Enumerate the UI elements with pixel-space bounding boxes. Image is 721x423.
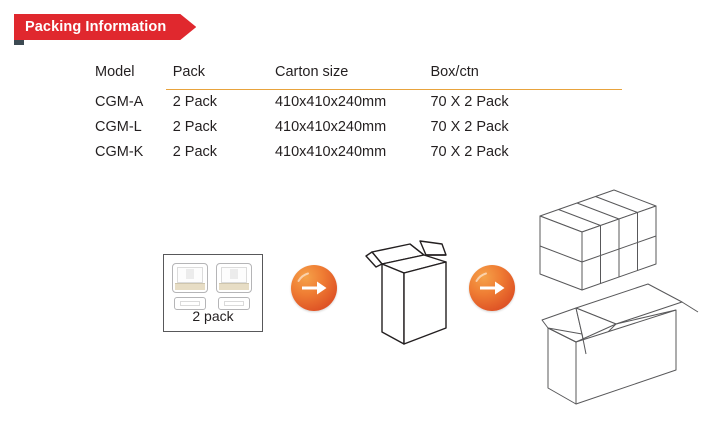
product-label-strip-icon [219, 283, 249, 290]
cell-model: CGM-A [95, 89, 173, 114]
arrow-right-icon [469, 265, 515, 311]
arrow-right-icon [291, 265, 337, 311]
table-row: CGM-K 2 Pack 410x410x240mm 70 X 2 Pack [95, 139, 635, 164]
column-header-model: Model [95, 64, 173, 89]
cell-pack: 2 Pack [173, 114, 275, 139]
product-screen-icon [221, 267, 247, 283]
two-pack-label: 2 pack [164, 308, 262, 324]
product-unit-icon [172, 263, 208, 293]
cell-box-ctn: 70 X 2 Pack [430, 89, 635, 114]
product-label-strip-icon [175, 283, 205, 290]
cell-pack: 2 Pack [173, 89, 275, 114]
table-header-row: Model Pack Carton size Box/ctn [95, 64, 635, 89]
table-row: CGM-A 2 Pack 410x410x240mm 70 X 2 Pack [95, 89, 635, 114]
product-screen-icon [177, 267, 203, 283]
column-header-carton-size: Carton size [275, 64, 430, 89]
cell-carton-size: 410x410x240mm [275, 139, 430, 164]
table-row: CGM-L 2 Pack 410x410x240mm 70 X 2 Pack [95, 114, 635, 139]
cell-model: CGM-L [95, 114, 173, 139]
large-open-carton-icon [520, 278, 720, 423]
column-header-pack: Pack [173, 64, 275, 89]
product-unit-icon [216, 263, 252, 293]
cell-carton-size: 410x410x240mm [275, 89, 430, 114]
cell-model: CGM-K [95, 139, 173, 164]
packing-information-table: Model Pack Carton size Box/ctn CGM-A 2 P… [95, 64, 635, 164]
open-carton-box-icon [352, 228, 464, 351]
column-header-box-ctn: Box/ctn [430, 64, 635, 89]
cell-carton-size: 410x410x240mm [275, 114, 430, 139]
cell-pack: 2 Pack [173, 139, 275, 164]
table-header-rule [166, 89, 622, 90]
cell-box-ctn: 70 X 2 Pack [430, 114, 635, 139]
cell-box-ctn: 70 X 2 Pack [430, 139, 635, 164]
two-pack-product-icon: 2 pack [163, 254, 263, 332]
page-title: Packing Information [14, 14, 196, 40]
